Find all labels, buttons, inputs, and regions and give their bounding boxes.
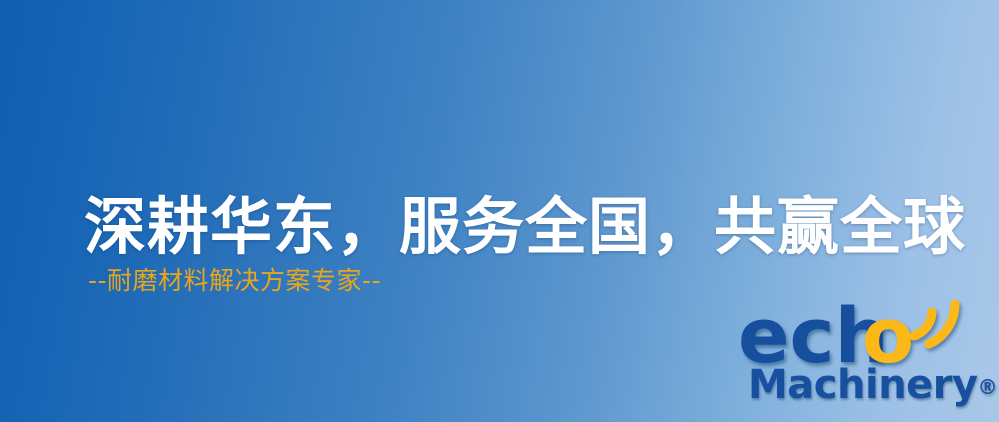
registered-trademark-icon: ® <box>978 375 998 399</box>
signal-waves-icon <box>914 304 955 344</box>
promo-banner: 深耕华东，服务全国，共赢全球 --耐磨材料解决方案专家-- ech o Mach… <box>0 0 999 422</box>
logo-tagline-text: Machinery <box>748 362 978 408</box>
logo-tagline-machinery: Machinery® <box>748 362 998 408</box>
echo-machinery-logo[interactable]: ech o Machinery® <box>736 296 994 422</box>
subtitle-text: --耐磨材料解决方案专家-- <box>88 267 381 295</box>
headline-text: 深耕华东，服务全国，共赢全球 <box>84 194 966 259</box>
